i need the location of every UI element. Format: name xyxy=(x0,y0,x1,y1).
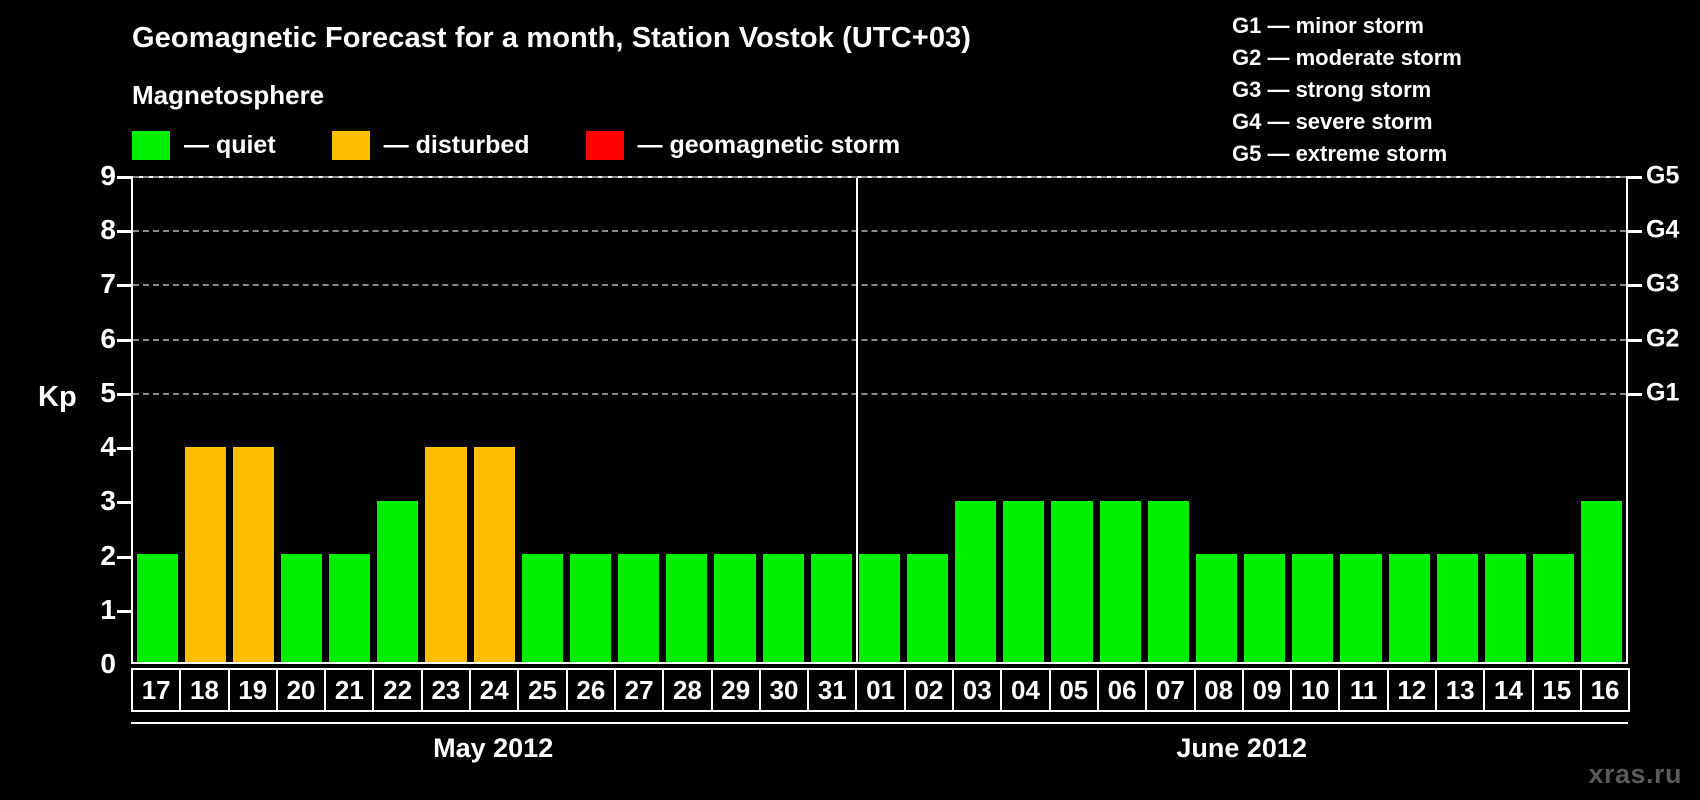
x-axis-day-cell[interactable]: 05 xyxy=(1049,668,1099,712)
bar-cell[interactable] xyxy=(518,178,566,662)
bar-cell[interactable] xyxy=(1241,178,1289,662)
x-axis-day-cell[interactable]: 10 xyxy=(1290,668,1340,712)
x-axis-day-cell[interactable]: 24 xyxy=(469,668,519,712)
bar[interactable] xyxy=(955,501,996,662)
bar[interactable] xyxy=(329,554,370,662)
x-axis-day-cell[interactable]: 06 xyxy=(1097,668,1147,712)
bar[interactable] xyxy=(1340,554,1381,662)
bar-cell[interactable] xyxy=(1048,178,1096,662)
bar-cell[interactable] xyxy=(1096,178,1144,662)
g-tick-label: G2 xyxy=(1646,324,1679,353)
bar[interactable] xyxy=(233,447,274,662)
y-tick-mark xyxy=(117,230,131,233)
bar[interactable] xyxy=(811,554,852,662)
legend-item: — disturbed xyxy=(332,131,586,160)
bar-cell[interactable] xyxy=(807,178,855,662)
g-tick-mark xyxy=(1628,230,1642,233)
y-tick-mark xyxy=(117,447,131,450)
bar-cell[interactable] xyxy=(326,178,374,662)
magnetosphere-legend: — quiet— disturbed— geomagnetic storm xyxy=(132,131,900,160)
g-scale-line: G3 — strong storm xyxy=(1232,74,1462,106)
bar[interactable] xyxy=(714,554,755,662)
g-scale-line: G5 — extreme storm xyxy=(1232,138,1462,170)
y-axis-title: Kp xyxy=(38,381,77,414)
bar-cell[interactable] xyxy=(1144,178,1192,662)
watermark: xras.ru xyxy=(1588,759,1682,790)
bar[interactable] xyxy=(137,554,178,662)
bar[interactable] xyxy=(522,554,563,662)
y-tick-mark xyxy=(117,610,131,613)
y-tick-label: 1 xyxy=(100,594,116,626)
g-scale-legend: G1 — minor stormG2 — moderate stormG3 — … xyxy=(1232,10,1462,170)
bar-cell[interactable] xyxy=(1337,178,1385,662)
x-axis-day-cell[interactable]: 31 xyxy=(807,668,857,712)
x-axis-day-cell[interactable]: 12 xyxy=(1387,668,1437,712)
legend-swatch-icon xyxy=(586,131,624,160)
x-axis-day-cell[interactable]: 20 xyxy=(276,668,326,712)
bar[interactable] xyxy=(907,554,948,662)
magnetosphere-heading: Magnetosphere xyxy=(132,80,324,111)
y-tick-mark xyxy=(117,501,131,504)
bar[interactable] xyxy=(1581,501,1622,662)
bar-cell[interactable] xyxy=(1578,178,1626,662)
bar[interactable] xyxy=(1244,554,1285,662)
y-tick-label: 7 xyxy=(100,268,116,300)
x-axis-day-cell[interactable]: 16 xyxy=(1580,668,1630,712)
x-axis-day-cell[interactable]: 09 xyxy=(1242,668,1292,712)
x-axis-day-cell[interactable]: 14 xyxy=(1483,668,1533,712)
x-axis-day-cell[interactable]: 26 xyxy=(566,668,616,712)
y-tick-label: 0 xyxy=(100,648,116,680)
g-tick-label: G1 xyxy=(1646,378,1679,407)
legend-item: — geomagnetic storm xyxy=(586,131,901,160)
bar-cell[interactable] xyxy=(904,178,952,662)
bar-cell[interactable] xyxy=(1000,178,1048,662)
bar-cell[interactable] xyxy=(1433,178,1481,662)
x-axis-day-cell[interactable]: 04 xyxy=(1000,668,1050,712)
bar-cell[interactable] xyxy=(566,178,614,662)
x-axis-day-cell[interactable]: 17 xyxy=(131,668,181,712)
y-tick-label: 2 xyxy=(100,540,116,572)
bar-cell[interactable] xyxy=(952,178,1000,662)
bar-cell[interactable] xyxy=(229,178,277,662)
x-axis-day-cell[interactable]: 21 xyxy=(324,668,374,712)
bar[interactable] xyxy=(1003,501,1044,662)
x-axis-day-cell[interactable]: 18 xyxy=(179,668,229,712)
y-tick-label: 6 xyxy=(100,323,116,355)
bar[interactable] xyxy=(1292,554,1333,662)
x-axis-day-cell[interactable]: 23 xyxy=(421,668,471,712)
y-tick-label: 4 xyxy=(100,431,116,463)
bar[interactable] xyxy=(570,554,611,662)
g-tick-mark xyxy=(1628,393,1642,396)
y-tick-label: 3 xyxy=(100,485,116,517)
bar-cell[interactable] xyxy=(1385,178,1433,662)
bar-cell[interactable] xyxy=(759,178,807,662)
bar-cell[interactable] xyxy=(1530,178,1578,662)
bar-cell[interactable] xyxy=(374,178,422,662)
bar[interactable] xyxy=(1148,501,1189,662)
bar[interactable] xyxy=(1196,554,1237,662)
month-separator xyxy=(856,178,858,662)
bar-cell[interactable] xyxy=(470,178,518,662)
legend-swatch-icon xyxy=(332,131,370,160)
x-axis-rule xyxy=(131,722,1628,724)
y-tick-label: 8 xyxy=(100,214,116,246)
x-axis-day-cell[interactable]: 25 xyxy=(517,668,567,712)
bar[interactable] xyxy=(666,554,707,662)
bar[interactable] xyxy=(1533,554,1574,662)
bar-cell[interactable] xyxy=(1289,178,1337,662)
bar-cell[interactable] xyxy=(277,178,325,662)
bar-cell[interactable] xyxy=(1481,178,1529,662)
x-axis-day-labels: 1718192021222324252627282930310102030405… xyxy=(131,668,1628,712)
x-axis-day-cell[interactable]: 29 xyxy=(711,668,761,712)
x-axis-day-cell[interactable]: 28 xyxy=(662,668,712,712)
plot-area xyxy=(131,176,1628,664)
x-axis-day-cell[interactable]: 07 xyxy=(1145,668,1195,712)
y-tick-mark xyxy=(117,393,131,396)
month-label: May 2012 xyxy=(433,733,553,764)
y-tick-mark xyxy=(117,339,131,342)
bar-cell[interactable] xyxy=(663,178,711,662)
bar[interactable] xyxy=(859,554,900,662)
page-title: Geomagnetic Forecast for a month, Statio… xyxy=(132,22,971,55)
g-scale-line: G2 — moderate storm xyxy=(1232,42,1462,74)
legend-item-label: — quiet xyxy=(184,131,276,160)
legend-swatch-icon xyxy=(132,131,170,160)
x-axis-day-cell[interactable]: 19 xyxy=(228,668,278,712)
g-scale-line: G4 — severe storm xyxy=(1232,106,1462,138)
x-axis-day-cell[interactable]: 03 xyxy=(952,668,1002,712)
legend-item-label: — geomagnetic storm xyxy=(638,131,901,160)
geomagnetic-forecast-chart: Geomagnetic Forecast for a month, Statio… xyxy=(0,0,1700,800)
month-label: June 2012 xyxy=(1176,733,1307,764)
g-tick-label: G4 xyxy=(1646,216,1679,245)
bar[interactable] xyxy=(281,554,322,662)
legend-item: — quiet xyxy=(132,131,332,160)
g-tick-mark xyxy=(1628,339,1642,342)
g-tick-label: G5 xyxy=(1646,162,1679,191)
bar[interactable] xyxy=(763,554,804,662)
bar[interactable] xyxy=(1389,554,1430,662)
x-axis-day-cell[interactable]: 02 xyxy=(904,668,954,712)
bar-series xyxy=(133,178,1626,662)
g-scale-line: G1 — minor storm xyxy=(1232,10,1462,42)
bar-cell[interactable] xyxy=(711,178,759,662)
x-axis-day-cell[interactable]: 01 xyxy=(855,668,905,712)
y-tick-mark xyxy=(117,556,131,559)
bar[interactable] xyxy=(425,447,466,662)
y-tick-label: 5 xyxy=(100,377,116,409)
legend-item-label: — disturbed xyxy=(384,131,530,160)
x-axis-day-cell[interactable]: 08 xyxy=(1194,668,1244,712)
x-axis-day-cell[interactable]: 15 xyxy=(1532,668,1582,712)
bar[interactable] xyxy=(1437,554,1478,662)
bar[interactable] xyxy=(474,447,515,662)
x-axis-day-cell[interactable]: 27 xyxy=(614,668,664,712)
bar[interactable] xyxy=(1100,501,1141,662)
x-axis-day-cell[interactable]: 11 xyxy=(1338,668,1388,712)
bar[interactable] xyxy=(377,501,418,662)
bar-cell[interactable] xyxy=(133,178,181,662)
bar[interactable] xyxy=(618,554,659,662)
x-axis-day-cell[interactable]: 30 xyxy=(759,668,809,712)
y-tick-label: 9 xyxy=(100,160,116,192)
bar-cell[interactable] xyxy=(1192,178,1240,662)
y-tick-mark xyxy=(117,176,131,179)
g-tick-mark xyxy=(1628,176,1642,179)
bar-cell[interactable] xyxy=(855,178,903,662)
bar[interactable] xyxy=(185,447,226,662)
bar[interactable] xyxy=(1051,501,1092,662)
bar-cell[interactable] xyxy=(615,178,663,662)
x-axis-day-cell[interactable]: 13 xyxy=(1435,668,1485,712)
bar-cell[interactable] xyxy=(181,178,229,662)
g-tick-mark xyxy=(1628,284,1642,287)
y-tick-mark xyxy=(117,284,131,287)
bar[interactable] xyxy=(1485,554,1526,662)
x-axis-day-cell[interactable]: 22 xyxy=(372,668,422,712)
g-tick-label: G3 xyxy=(1646,270,1679,299)
bar-cell[interactable] xyxy=(422,178,470,662)
